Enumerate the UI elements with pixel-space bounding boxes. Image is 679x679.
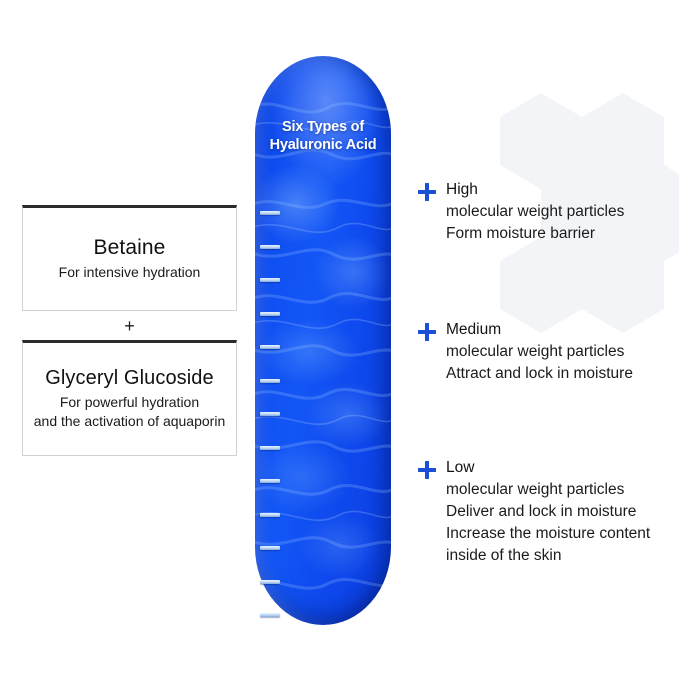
ingredient-description: For intensive hydration xyxy=(53,263,207,282)
feature-detail-lines: molecular weight particles Form moisture… xyxy=(446,201,668,245)
feature-detail-line: Increase the moisture content xyxy=(446,523,668,545)
measurement-tick xyxy=(260,312,280,316)
measurement-tick xyxy=(260,546,280,550)
ingredient-title: Betaine xyxy=(94,236,166,260)
feature-detail-line: Deliver and lock in moisture xyxy=(446,501,668,523)
hyaluronic-acid-tube: Six Types of Hyaluronic Acid xyxy=(255,56,391,625)
feature-heading-row: Low xyxy=(418,458,668,479)
measurement-tick xyxy=(260,278,280,282)
feature-heading: Medium xyxy=(446,320,501,340)
measurement-tick xyxy=(260,412,280,416)
tube-title-line2: Hyaluronic Acid xyxy=(255,136,391,154)
ingredient-card-betaine: Betaine For intensive hydration xyxy=(22,205,237,311)
plus-icon xyxy=(418,323,436,341)
tube-title-line1: Six Types of xyxy=(255,118,391,136)
feature-block-high: High molecular weight particles Form moi… xyxy=(418,180,668,245)
plus-icon xyxy=(418,461,436,479)
feature-detail-line: molecular weight particles xyxy=(446,479,668,501)
feature-heading: Low xyxy=(446,458,474,478)
feature-detail-line: molecular weight particles xyxy=(446,201,668,223)
feature-detail-line: Attract and lock in moisture xyxy=(446,363,668,385)
measurement-tick xyxy=(260,613,280,617)
measurement-tick xyxy=(260,513,280,517)
measurement-tick xyxy=(260,379,280,383)
ingredient-plus-separator: + xyxy=(22,312,237,340)
measurement-tick xyxy=(260,479,280,483)
feature-block-low: Low molecular weight particles Deliver a… xyxy=(418,458,668,567)
feature-detail-lines: molecular weight particles Attract and l… xyxy=(446,341,668,385)
plus-icon xyxy=(418,183,436,201)
ingredient-title: Glyceryl Glucoside xyxy=(45,367,214,390)
measurement-tick xyxy=(260,345,280,349)
feature-heading-row: High xyxy=(418,180,668,201)
measurement-tick xyxy=(260,446,280,450)
feature-heading-row: Medium xyxy=(418,320,668,341)
measurement-tick xyxy=(260,580,280,584)
feature-block-medium: Medium molecular weight particles Attrac… xyxy=(418,320,668,385)
ingredient-card-glyceryl-glucoside: Glyceryl Glucoside For powerful hydratio… xyxy=(22,340,237,456)
feature-detail-line: molecular weight particles xyxy=(446,341,668,363)
feature-detail-lines: molecular weight particles Deliver and l… xyxy=(446,479,668,567)
feature-detail-line: Form moisture barrier xyxy=(446,223,668,245)
measurement-tick xyxy=(260,245,280,249)
ingredient-description-line2: and the activation of aquaporin xyxy=(28,412,231,431)
feature-detail-line: inside of the skin xyxy=(446,545,668,567)
ingredient-description: For powerful hydration xyxy=(54,393,205,412)
infographic-canvas: Betaine For intensive hydration + Glycer… xyxy=(0,0,679,679)
feature-heading: High xyxy=(446,180,478,200)
tube-title: Six Types of Hyaluronic Acid xyxy=(255,118,391,154)
measurement-tick xyxy=(260,211,280,215)
